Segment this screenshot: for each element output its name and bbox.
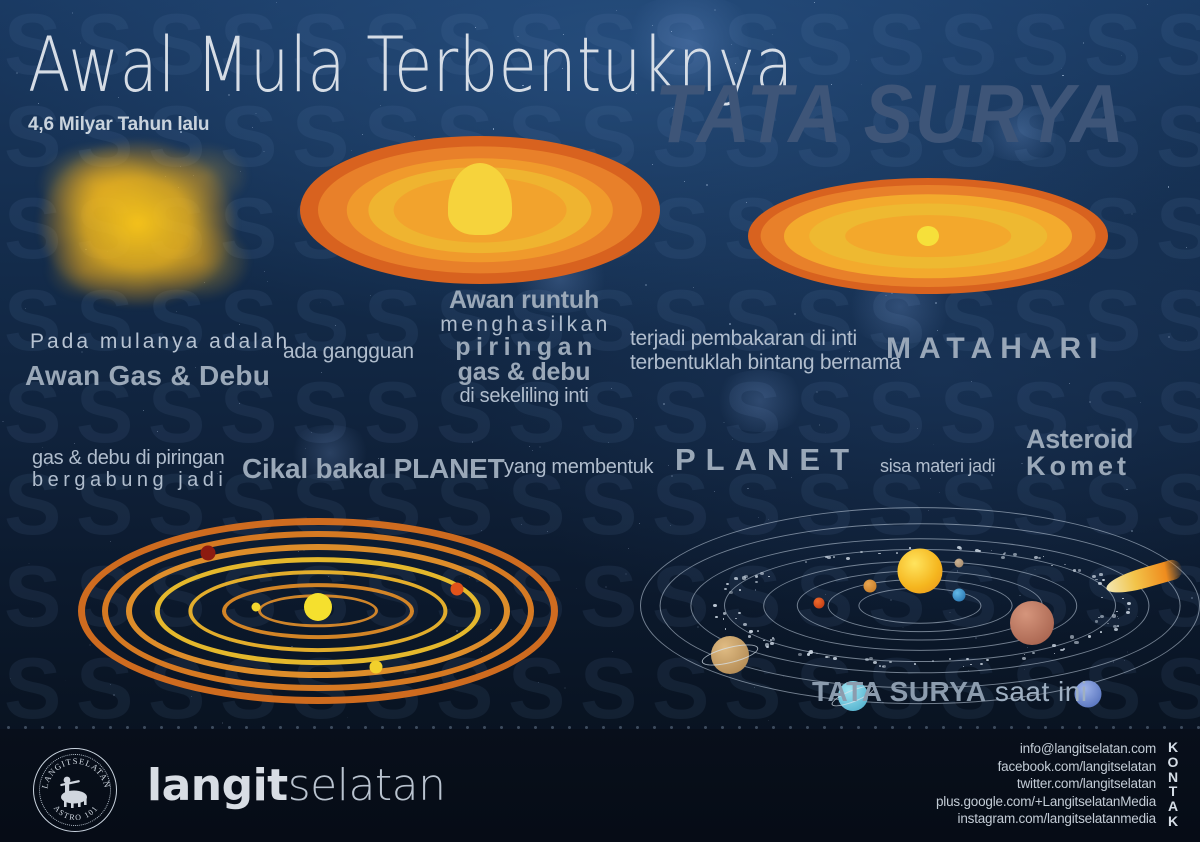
disk2-ring-3 (784, 194, 1072, 278)
forming-orbit-0 (78, 518, 558, 704)
step-1-line2: Awan Gas & Debu (25, 360, 270, 392)
step-9-planet: PLANET (675, 442, 859, 478)
step-6-line1: gas & debu di piringan (32, 447, 227, 469)
langitselatan-emblem-icon: LANGITSELATAN ASTRO 101 (33, 748, 117, 832)
brand-bold: langit (147, 760, 288, 811)
planet-orbit-7 (640, 507, 1200, 705)
protoplanet-yellow (369, 660, 382, 673)
step-11-asteroid: Asteroid (1026, 426, 1133, 453)
comet (1104, 557, 1184, 598)
forming-orbit-3 (155, 557, 481, 665)
disk2-ring-1 (845, 215, 1011, 257)
step-3-line4: gas & debu (434, 360, 614, 386)
svg-text:ASTRO 101: ASTRO 101 (52, 804, 100, 823)
step-7-label: Cikal bakal PLANET (242, 453, 504, 485)
central-star (304, 593, 332, 621)
planet-mercury (955, 558, 964, 567)
brand-wordmark: langitselatan (147, 760, 446, 811)
planet-orbit-0 (858, 587, 981, 624)
disk-ring-outer (300, 136, 660, 284)
page-title-accent: TATA SURYA (655, 66, 1126, 161)
step-1-line1: Pada mulanya adalah (30, 330, 290, 354)
infographic-poster: Awal Mula Terbentuknya 4,6 Milyar Tahun … (0, 0, 1200, 842)
step-5-matahari: MATAHARI (886, 332, 1106, 366)
planet-mars (814, 598, 825, 609)
kontak-letter-0: K (1165, 740, 1182, 755)
step-8-label: yang membentuk (504, 456, 653, 479)
brand-light: selatan (288, 760, 446, 811)
planet-orbit-3 (763, 560, 1077, 650)
protostar-core (448, 163, 512, 235)
kontak-letter-3: T (1165, 784, 1182, 799)
forming-orbit-4 (188, 570, 447, 652)
planet-jupiter (1010, 601, 1054, 645)
kontak-letter-5: K (1165, 814, 1182, 829)
step-3-line1: Awan runtuh (434, 288, 614, 314)
svg-text:LANGITSELATAN: LANGITSELATAN (39, 756, 112, 790)
star-core (917, 226, 939, 246)
disk-ring-3 (347, 158, 613, 262)
step-3-block: Awan runtuh menghasilkan piringan gas & … (434, 288, 614, 406)
step-10-label: sisa materi jadi (880, 456, 995, 477)
caption-bold: TATA SURYA (812, 676, 987, 707)
page-subtitle: 4,6 Milyar Tahun lalu (28, 114, 209, 136)
planet-orbit-5 (690, 538, 1149, 673)
step-11-komet: Komet (1026, 453, 1133, 480)
gas-dust-cloud (18, 120, 278, 335)
forming-orbit-1 (102, 531, 534, 691)
planet-orbit-2 (797, 570, 1043, 641)
disk2-ring-2 (809, 204, 1047, 269)
step-4-block: terjadi pembakaran di inti terbentuklah … (630, 327, 901, 374)
forming-orbit-6 (258, 594, 378, 627)
contact-item-0[interactable]: info@langitselatan.com (936, 740, 1156, 758)
protostar-disk-illustration (748, 178, 1108, 294)
planet-orbit-4 (724, 549, 1116, 663)
collapsing-disk-illustration (300, 136, 660, 284)
planet-saturn (711, 636, 749, 674)
step-4-line2: terbentuklah bintang bernama (630, 351, 901, 375)
planet-venus (863, 580, 876, 593)
emblem-artwork-icon: LANGITSELATAN ASTRO 101 (34, 749, 118, 833)
caption-light: saat ini (987, 676, 1088, 707)
contact-item-3[interactable]: plus.google.com/+LangitselatanMedia (936, 793, 1156, 811)
contact-item-2[interactable]: twitter.com/langitselatan (936, 775, 1156, 793)
planet-earth (953, 588, 966, 601)
forming-orbit-2 (126, 544, 510, 678)
step-3-line5: di sekeliling inti (434, 386, 614, 406)
kontak-letter-1: O (1165, 755, 1182, 770)
step-3-line3: piringan (434, 335, 614, 361)
footer-divider (0, 726, 1200, 729)
forming-orbit-5 (222, 583, 414, 639)
step-6-block: gas & debu di piringan bergabung jadi (32, 447, 227, 492)
step-4-line1: terjadi pembakaran di inti (630, 327, 901, 351)
planet-sun (898, 549, 943, 594)
planet-orbit-6 (660, 523, 1181, 689)
planet-forming-disk-illustration (78, 518, 558, 704)
disk-ring-1 (394, 177, 567, 242)
disk-ring-4 (318, 146, 642, 273)
contact-list: info@langitselatan.comfacebook.com/langi… (936, 740, 1156, 828)
step-11-block: Asteroid Komet (1026, 426, 1133, 480)
step-3-line2: menghasilkan (434, 314, 614, 335)
kontak-vertical-label: KONTAK (1165, 740, 1182, 829)
planet-orbit-1 (828, 579, 1013, 633)
disk2-ring-4 (761, 185, 1096, 287)
contact-item-1[interactable]: facebook.com/langitselatan (936, 758, 1156, 776)
kontak-letter-2: N (1165, 770, 1182, 785)
contact-item-4[interactable]: instagram.com/langitselatanmedia (936, 810, 1156, 828)
solar-system-caption: TATA SURYA saat ini (812, 676, 1088, 708)
protoplanet-yellow-small (251, 603, 260, 612)
disk-ring-2 (368, 167, 591, 253)
step-6-line2: bergabung jadi (32, 469, 227, 491)
protoplanet-red (200, 546, 215, 561)
ring-saturn (700, 640, 760, 670)
kontak-letter-4: A (1165, 799, 1182, 814)
protoplanet-orange (451, 582, 464, 595)
disk2-ring-outer (748, 178, 1108, 294)
step-2-label: ada gangguan (283, 340, 414, 364)
